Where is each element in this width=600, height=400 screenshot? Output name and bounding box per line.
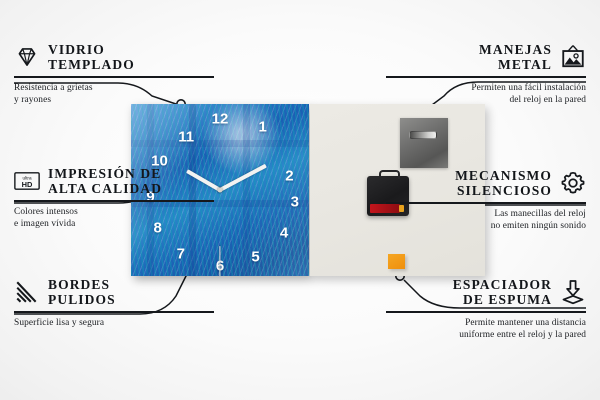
feature-title-line2: SILENCIOSO xyxy=(455,183,552,198)
feature-title-line1: ESPACIADOR xyxy=(453,277,552,292)
feature-vidrio-templado[interactable]: VIDRIO TEMPLADO Resistencia a grietas y … xyxy=(14,42,214,107)
feature-desc-line1: Superficie lisa y segura xyxy=(14,317,214,329)
feature-divider xyxy=(386,76,586,78)
metal-hanger-plate-icon xyxy=(400,118,448,168)
feature-desc-line1: Permiten una fácil instalación xyxy=(386,82,586,94)
feature-title-line1: VIDRIO xyxy=(48,42,135,57)
feature-title-line1: MECANISMO xyxy=(455,168,552,183)
feature-desc-line1: Colores intensos xyxy=(14,206,214,218)
clock-numeral: 2 xyxy=(285,169,293,184)
clock-numeral: 4 xyxy=(280,226,288,241)
feature-title-line2: PULIDOS xyxy=(48,292,116,307)
feature-divider xyxy=(386,202,586,204)
feature-title-line1: IMPRESIÓN DE xyxy=(48,166,162,181)
picture-frame-hanger-icon xyxy=(560,44,586,70)
feature-desc-line2: uniforme entre el reloj y la pared xyxy=(386,329,586,341)
svg-text:HD: HD xyxy=(22,180,33,189)
polished-edges-icon xyxy=(14,279,40,305)
feature-divider xyxy=(14,311,214,313)
feature-mecanismo-silencioso[interactable]: MECANISMO SILENCIOSO Las manecillas del … xyxy=(386,168,586,233)
feature-desc-line2: y rayones xyxy=(14,94,214,106)
feature-impresion-alta-calidad[interactable]: ultra HD IMPRESIÓN DE ALTA CALIDAD Color… xyxy=(14,166,214,231)
feature-divider xyxy=(386,311,586,313)
feature-title-line2: ALTA CALIDAD xyxy=(48,181,162,196)
feature-title-line2: METAL xyxy=(479,57,552,72)
feature-divider xyxy=(14,76,214,78)
feature-title-line2: DE ESPUMA xyxy=(453,292,552,307)
clock-numeral: 11 xyxy=(178,129,194,144)
clock-numeral: 5 xyxy=(251,250,259,265)
clock-numeral: 1 xyxy=(259,120,267,135)
feature-divider xyxy=(14,200,214,202)
feature-title-line1: MANEJAS xyxy=(479,42,552,57)
arrow-into-layers-icon xyxy=(560,279,586,305)
feature-title-line1: BORDES xyxy=(48,277,116,292)
gear-icon xyxy=(560,170,586,196)
ultra-hd-icon: ultra HD xyxy=(14,168,40,194)
feature-title-line2: TEMPLADO xyxy=(48,57,135,72)
feature-desc-line1: Resistencia a grietas xyxy=(14,82,214,94)
clock-center-pin xyxy=(218,188,223,193)
feature-desc-line2: no emiten ningún sonido xyxy=(386,220,586,232)
feature-desc-line1: Permite mantener una distancia xyxy=(386,317,586,329)
foam-spacer-part xyxy=(388,254,405,269)
diamond-icon xyxy=(14,44,40,70)
feature-manejas-metal[interactable]: MANEJAS METAL Permiten una fácil instala… xyxy=(386,42,586,107)
clock-numeral: 12 xyxy=(212,112,229,127)
clock-numeral: 7 xyxy=(177,246,185,261)
feature-espaciador-espuma[interactable]: ESPACIADOR DE ESPUMA Permite mantener un… xyxy=(386,277,586,342)
feature-desc-line1: Las manecillas del reloj xyxy=(386,208,586,220)
feature-desc-line2: del reloj en la pared xyxy=(386,94,586,106)
feature-bordes-pulidos[interactable]: BORDES PULIDOS Superficie lisa y segura xyxy=(14,277,214,329)
feature-desc-line2: e imagen vívida xyxy=(14,218,214,230)
clock-numeral: 3 xyxy=(291,195,299,210)
infographic-canvas: 12 1 2 3 4 5 6 7 8 9 10 11 xyxy=(0,0,600,400)
